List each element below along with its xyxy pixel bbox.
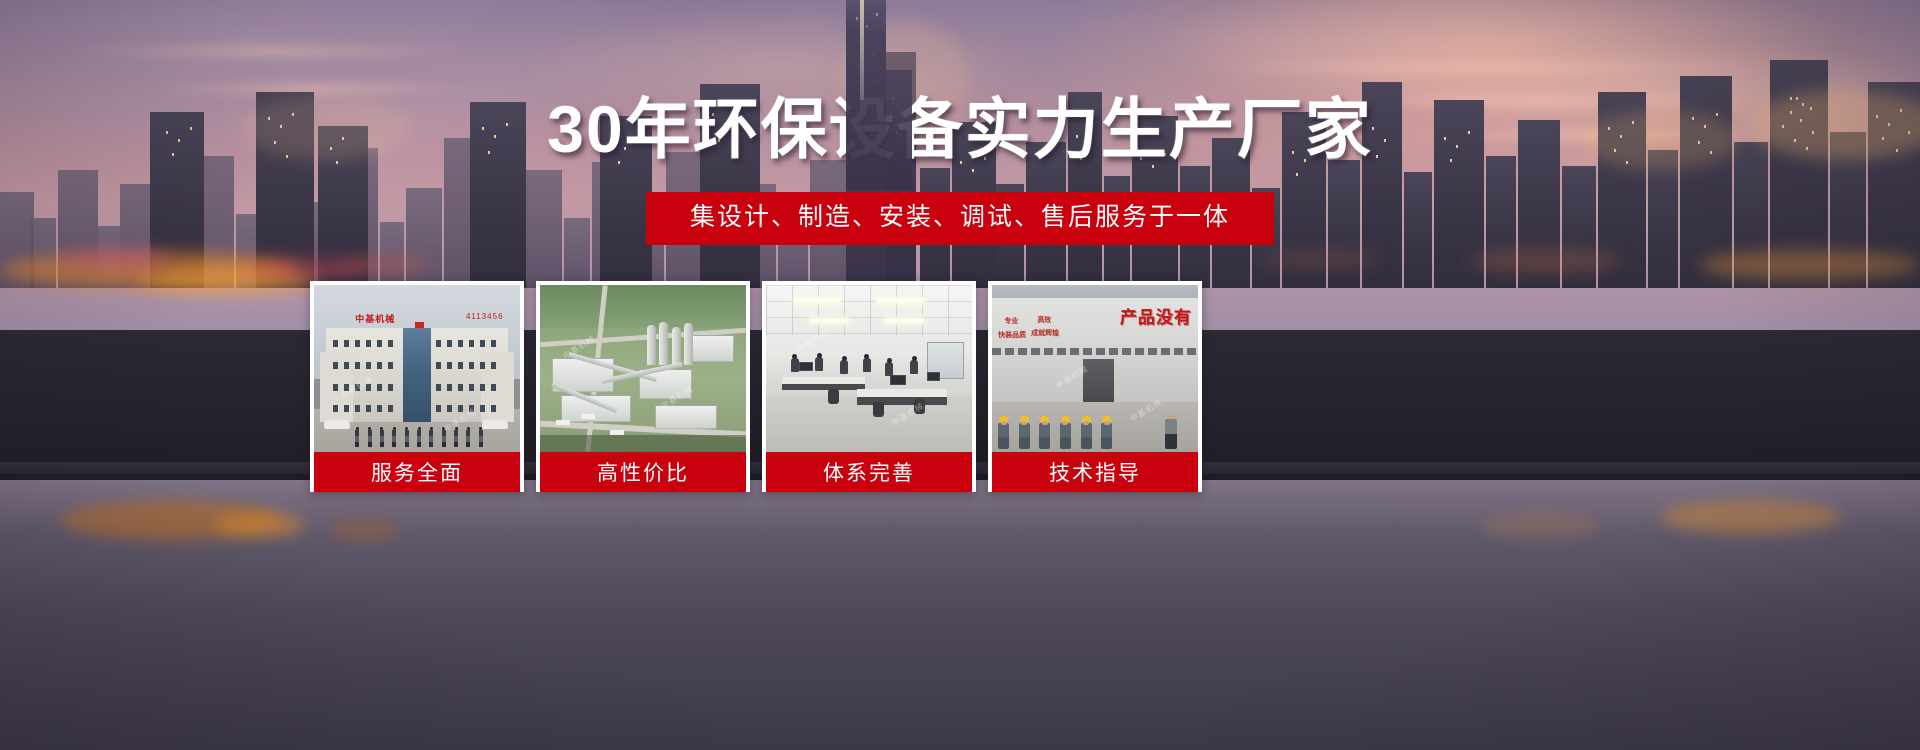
- factory-slogan-left2: 快装品质: [998, 332, 1026, 340]
- hero-banner: 30年环保设备实力生产厂家 集设计、制造、安装、调试、售后服务于一体: [0, 0, 1920, 750]
- factory-slogan-right2: 成就辉煌: [1031, 330, 1059, 338]
- feature-card-list: 中基机械 4113456 中基机械 中基机械 服务全面: [310, 281, 1202, 492]
- card-image-office-interior-staff: 中基机械 中基机械: [766, 285, 972, 452]
- factory-sign-text: 产品没有: [1120, 303, 1192, 328]
- water-reflection: [330, 520, 400, 540]
- feature-card[interactable]: 产品没有 专业 快装品质 高效 成就辉煌 中基机械 中基机械 技术指导: [988, 281, 1202, 492]
- factory-slogan-right: 高效: [1037, 317, 1051, 325]
- card-image-factory-workers-training: 产品没有 专业 快装品质 高效 成就辉煌 中基机械 中基机械: [992, 285, 1198, 452]
- building-sign-text: 中基机械: [355, 312, 395, 325]
- card-image-company-office-building: 中基机械 4113456 中基机械 中基机械: [314, 285, 520, 452]
- feature-card[interactable]: 中基机械 4113456 中基机械 中基机械 服务全面: [310, 281, 524, 492]
- card-caption: 体系完善: [766, 452, 972, 492]
- page-title: 30年环保设备实力生产厂家: [0, 96, 1920, 162]
- feature-card[interactable]: 中基机械 中基机械 体系完善: [762, 281, 976, 492]
- card-image-aerial-production-plant: 中基机械 中基机械: [540, 285, 746, 452]
- card-caption: 服务全面: [314, 452, 520, 492]
- factory-slogan-left: 专业: [1004, 318, 1018, 326]
- subtitle-banner: 集设计、制造、安装、调试、售后服务于一体: [646, 192, 1274, 245]
- card-caption: 高性价比: [540, 452, 746, 492]
- building-phone-text: 4113456: [466, 312, 504, 321]
- card-caption: 技术指导: [992, 452, 1198, 492]
- feature-card[interactable]: 中基机械 中基机械 高性价比: [536, 281, 750, 492]
